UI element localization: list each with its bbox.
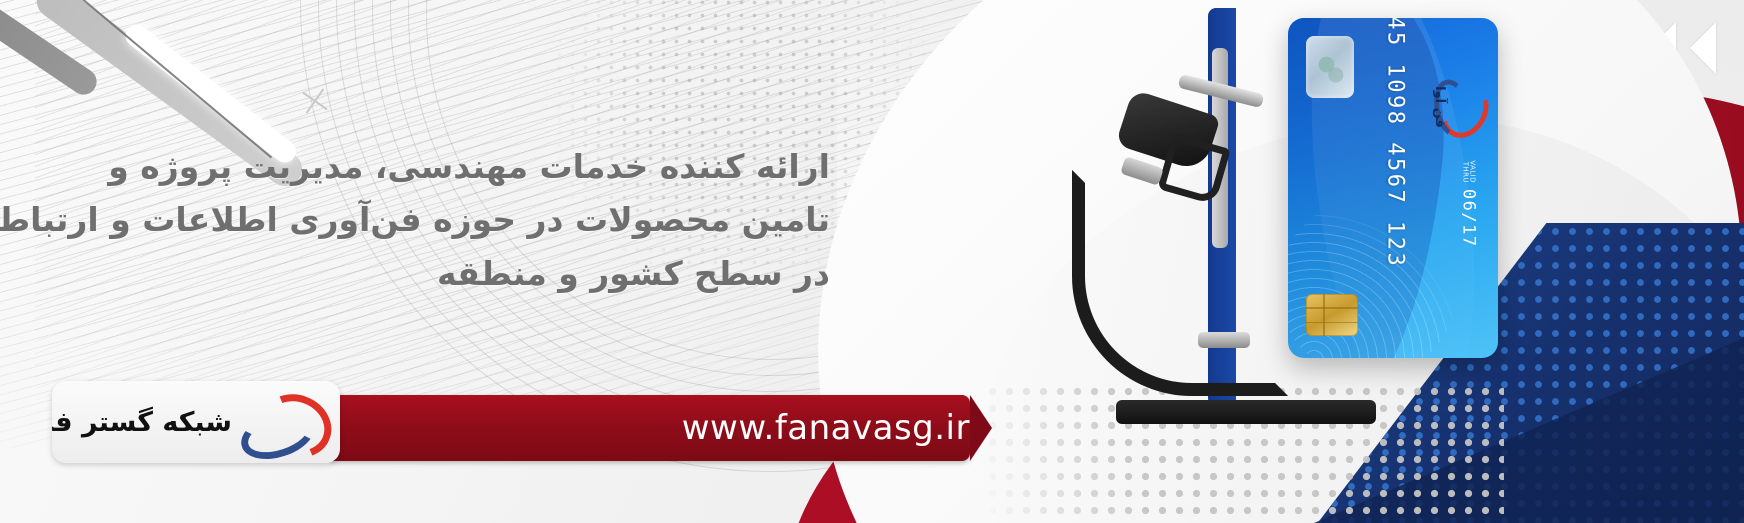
headline-line-1: ارائه کننده خدمات مهندسی، مدیریت پروژه و [0, 140, 830, 193]
fuel-hose [1072, 170, 1288, 396]
card-brand-logo: فن آوا [1419, 75, 1489, 139]
card-emv-chip [1306, 294, 1358, 336]
website-url-text[interactable]: www.fanavasg.ir [682, 408, 970, 448]
card-hologram [1306, 36, 1354, 98]
nozzle-spout [1178, 74, 1265, 108]
pump-base [1116, 400, 1376, 424]
card-valid-thru-label: VALID THRU [1461, 160, 1476, 182]
brand-text: فن آوا [1432, 77, 1447, 137]
company-logo[interactable]: شبکه گستر فن آوا [52, 381, 340, 463]
headline-text: ارائه کننده خدمات مهندسی، مدیریت پروژه و… [0, 140, 856, 300]
card-expiry-group: VALID THRU 06/17 [1458, 160, 1478, 247]
chevron-right-icon-1 [1690, 22, 1716, 74]
sparkle-icon-left [300, 86, 330, 116]
promotional-banner: فن آوا 2345 1098 4567 123 VALID THRU 06/… [0, 0, 1744, 523]
headline-line-3: در سطح کشور و منطقه [0, 247, 830, 300]
credit-card-graphic: فن آوا 2345 1098 4567 123 VALID THRU 06/… [1288, 18, 1498, 358]
valid-label-line2: THRU [1461, 160, 1468, 182]
headline-line-2: تامین محصولات در حوزه فن‌آوری اطلاعات و … [0, 193, 830, 246]
logo-mark-icon [238, 391, 324, 453]
hose-connector [1198, 332, 1250, 348]
logo-company-name: شبکه گستر فن آوا [52, 409, 232, 436]
card-expiry-value: 06/17 [1458, 189, 1478, 248]
card-number: 2345 1098 4567 123 [1383, 18, 1408, 292]
website-url-ribbon[interactable]: www.fanavasg.ir [330, 395, 970, 461]
